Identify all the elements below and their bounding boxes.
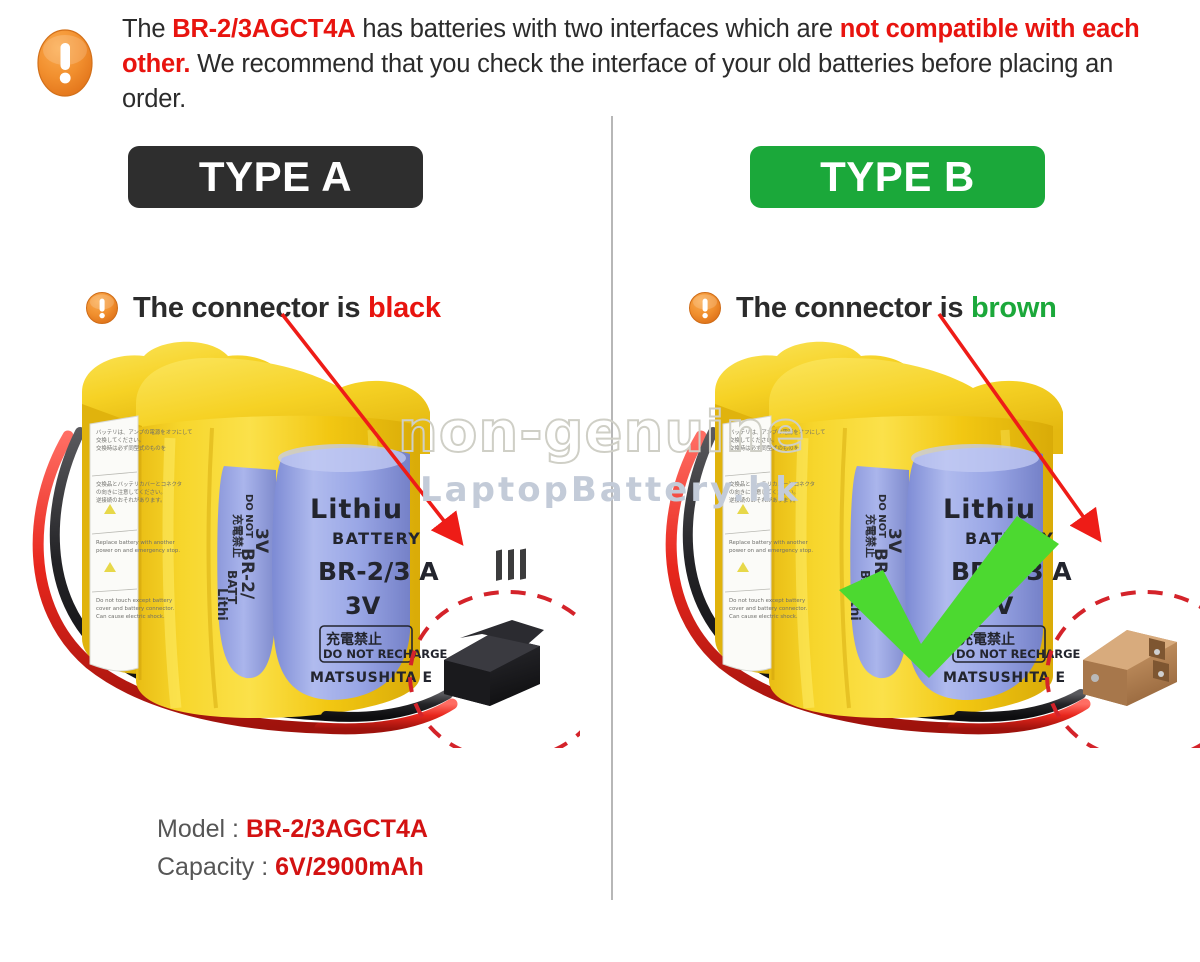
exclamation-circle-icon	[36, 26, 94, 98]
panel-type-a: TYPE A The connecto	[0, 118, 611, 900]
svg-text:逆接続のおそれがあります。: 逆接続のおそれがあります。	[96, 496, 166, 504]
svg-text:交換時は必ず同型式のものを: 交換時は必ず同型式のものを	[96, 444, 166, 452]
model-value-a: BR-2/3AGCT4A	[246, 815, 428, 843]
comparison-infographic: The BR-2/3AGCT4A has batteries with two …	[0, 0, 1200, 900]
svg-text:cover and battery connector.: cover and battery connector.	[729, 606, 807, 612]
svg-text:Replace battery with another: Replace battery with another	[729, 540, 808, 546]
svg-text:Can cause electric shock.: Can cause electric shock.	[96, 614, 165, 620]
capacity-label-a: Capacity :	[157, 853, 275, 881]
notice-text: The BR-2/3AGCT4A has batteries with two …	[122, 12, 1162, 117]
svg-text:MATSUSHITA E: MATSUSHITA E	[310, 670, 433, 686]
notice-seg-1: BR-2/3AGCT4A	[172, 15, 355, 43]
notice-seg-2: has batteries with two interfaces which …	[355, 15, 839, 43]
svg-text:Lithi: Lithi	[214, 588, 229, 621]
svg-text:交換してください。: 交換してください。	[729, 436, 777, 444]
capacity-value-a: 6V/2900mAh	[275, 853, 424, 881]
svg-text:BR-2/3 A: BR-2/3 A	[318, 557, 439, 586]
svg-text:交換してください。: 交換してください。	[96, 436, 144, 444]
capacity-row-a: Capacity : 6V/2900mAh	[157, 848, 428, 886]
svg-text:の向きに注意してください。: の向きに注意してください。	[729, 488, 799, 496]
battery-photo-type-b: Lithiu BATTERY BR-2/3 A 3V 充電禁止 DO NOT R…	[653, 308, 1200, 748]
svg-text:充電禁止: 充電禁止	[326, 631, 382, 648]
svg-text:Lithiu: Lithiu	[310, 494, 403, 525]
svg-text:BR-2/: BR-2/	[237, 548, 257, 600]
svg-text:power on and emergency stop.: power on and emergency stop.	[729, 548, 813, 554]
svg-text:DO NOT RECHARGE: DO NOT RECHARGE	[956, 647, 1081, 661]
svg-text:交換品とバッテリカバーとコネクタ: 交換品とバッテリカバーとコネクタ	[729, 480, 815, 488]
svg-text:バッテリは、アンプの電源をオフにして: バッテリは、アンプの電源をオフにして	[96, 428, 193, 436]
svg-text:バッテリは、アンプの電源をオフにして: バッテリは、アンプの電源をオフにして	[729, 428, 826, 436]
svg-text:Do not touch except battery: Do not touch except battery	[729, 598, 806, 604]
svg-text:Do not touch except battery: Do not touch except battery	[96, 598, 173, 604]
svg-text:power on and emergency stop.: power on and emergency stop.	[96, 548, 180, 554]
svg-text:交換時は必ず同型式のものを: 交換時は必ず同型式のものを	[729, 444, 799, 452]
specs-type-a: Model : BR-2/3AGCT4A Capacity : 6V/2900m…	[157, 810, 428, 886]
svg-text:Can cause electric shock.: Can cause electric shock.	[729, 614, 798, 620]
svg-text:の向きに注意してください。: の向きに注意してください。	[96, 488, 166, 496]
panel-type-b: TYPE B The connector is brown	[613, 118, 1200, 900]
battery-photo-type-a: Lithiu BATTERY BR-2/3 A 3V 充電禁止 DO NOT R…	[20, 308, 580, 748]
svg-text:DO NOT RECHARGE: DO NOT RECHARGE	[323, 647, 448, 661]
svg-text:逆接続のおそれがあります。: 逆接続のおそれがあります。	[729, 496, 799, 504]
notice-seg-4: We recommend that you check the interfac…	[122, 50, 1113, 113]
badge-type-a: TYPE A	[128, 146, 423, 208]
model-label-a: Model :	[157, 815, 246, 843]
notice-seg-0: The	[122, 15, 172, 43]
svg-text:BATTERY: BATTERY	[332, 529, 421, 548]
black-connector	[444, 548, 544, 706]
svg-text:Replace battery with another: Replace battery with another	[96, 540, 175, 546]
svg-text:cover and battery connector.: cover and battery connector.	[96, 606, 174, 612]
svg-text:3V: 3V	[345, 592, 381, 620]
battery-pack: Lithiu BATTERY BR-2/3 A 3V 充電禁止 DO NOT R…	[82, 342, 448, 718]
svg-text:交換品とバッテリカバーとコネクタ: 交換品とバッテリカバーとコネクタ	[96, 480, 182, 488]
model-row-a: Model : BR-2/3AGCT4A	[157, 810, 428, 848]
brown-connector	[1083, 630, 1177, 706]
badge-type-b: TYPE B	[750, 146, 1045, 208]
notice-banner: The BR-2/3AGCT4A has batteries with two …	[0, 0, 1200, 118]
